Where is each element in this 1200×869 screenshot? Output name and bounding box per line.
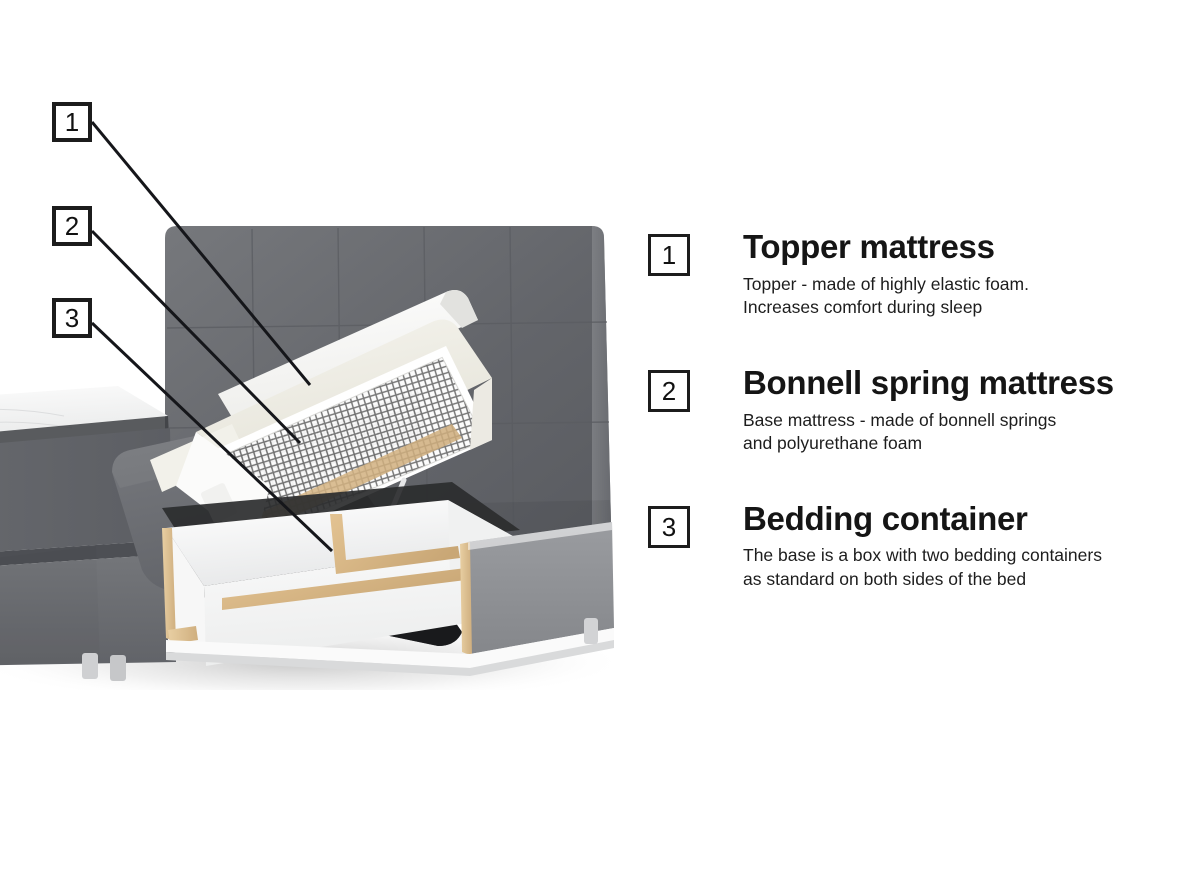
legend-desc-2: Base mattress - made of bonnell springs … <box>743 409 1193 456</box>
bed-foot <box>110 655 126 681</box>
legend-desc-3-line1: The base is a box with two bedding conta… <box>743 544 1193 568</box>
legend-title-2: Bonnell spring mattress <box>743 366 1193 401</box>
legend-badge-3-label: 3 <box>662 514 676 540</box>
legend-title-3: Bedding container <box>743 502 1193 537</box>
bed-product-illustration <box>0 210 640 690</box>
bed-foot <box>584 618 598 644</box>
legend-badge-3: 3 <box>648 506 690 548</box>
legend-desc-1-line2: Increases comfort during sleep <box>743 296 1193 320</box>
legend-desc-3: The base is a box with two bedding conta… <box>743 544 1193 591</box>
legend-badge-1-label: 1 <box>662 242 676 268</box>
legend-desc-3-line2: as standard on both sides of the bed <box>743 568 1193 592</box>
callout-badge-3-label: 3 <box>65 305 79 331</box>
legend-item-2[interactable]: 2 Bonnell spring mattress Base mattress … <box>648 366 1193 456</box>
legend-badge-2: 2 <box>648 370 690 412</box>
bed-foot <box>82 653 98 679</box>
callout-badge-2-label: 2 <box>65 213 79 239</box>
callout-badge-1[interactable]: 1 <box>52 102 92 142</box>
legend-title-1: Topper mattress <box>743 230 1193 265</box>
legend-body-3: Bedding container The base is a box with… <box>743 502 1193 592</box>
legend-desc-2-line2: and polyurethane foam <box>743 432 1193 456</box>
legend-item-3[interactable]: 3 Bedding container The base is a box wi… <box>648 502 1193 592</box>
legend-desc-2-line1: Base mattress - made of bonnell springs <box>743 409 1193 433</box>
infographic-stage: 1 2 3 1 Topper mattress Topper - made of… <box>0 0 1200 869</box>
legend-body-1: Topper mattress Topper - made of highly … <box>743 230 1193 320</box>
legend-panel: 1 Topper mattress Topper - made of highl… <box>648 230 1193 592</box>
legend-badge-1: 1 <box>648 234 690 276</box>
legend-body-2: Bonnell spring mattress Base mattress - … <box>743 366 1193 456</box>
callout-badge-2[interactable]: 2 <box>52 206 92 246</box>
callout-badge-3[interactable]: 3 <box>52 298 92 338</box>
legend-item-1[interactable]: 1 Topper mattress Topper - made of highl… <box>648 230 1193 320</box>
callout-badge-1-label: 1 <box>65 109 79 135</box>
legend-desc-1: Topper - made of highly elastic foam. In… <box>743 273 1193 320</box>
legend-badge-2-label: 2 <box>662 378 676 404</box>
legend-desc-1-line1: Topper - made of highly elastic foam. <box>743 273 1193 297</box>
